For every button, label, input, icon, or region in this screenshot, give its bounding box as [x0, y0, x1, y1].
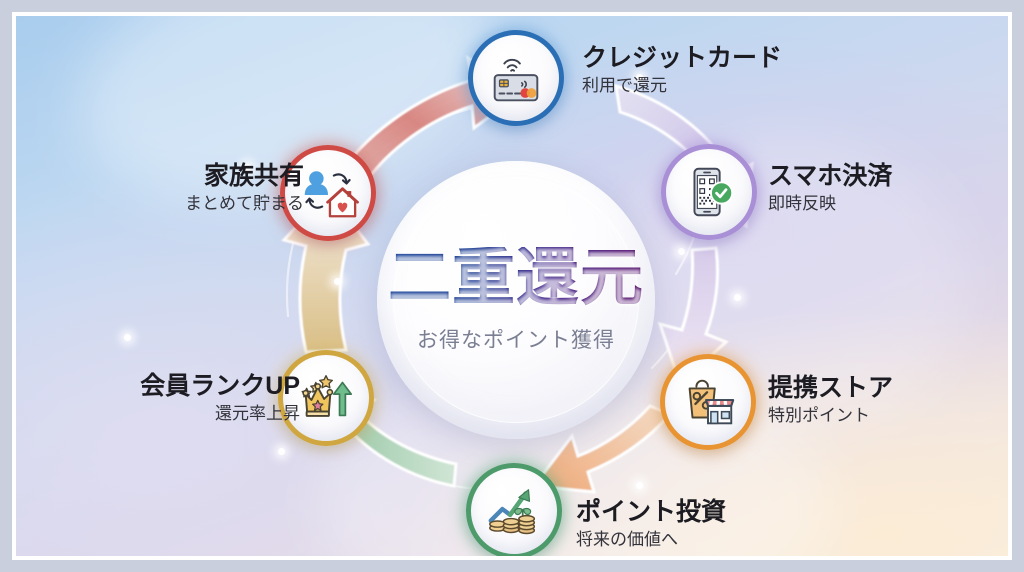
node-credit-card[interactable]	[468, 30, 564, 126]
node-title: 提携ストア	[768, 374, 893, 403]
node-subtitle: 特別ポイント	[768, 406, 893, 426]
sparkle-dot	[678, 248, 685, 255]
node-title: クレジットカード	[582, 44, 782, 73]
node-subtitle: 即時反映	[768, 194, 892, 214]
label-member-rank-up: 会員ランクUP 還元率上昇	[18, 372, 300, 424]
poster-frame: 二重還元 お得なポイント獲得	[12, 12, 1012, 560]
label-partner-store: 提携ストア 特別ポイント	[768, 374, 893, 426]
label-credit-card: クレジットカード 利用で還元	[582, 44, 782, 96]
node-subtitle: まとめて貯まる	[36, 194, 304, 214]
family-home-sync-icon	[297, 162, 359, 224]
node-partner-store[interactable]	[660, 354, 756, 450]
credit-card-icon	[485, 47, 547, 109]
shopping-store-icon	[677, 371, 739, 433]
center-subtitle: お得なポイント獲得	[417, 324, 615, 354]
sparkle-dot	[278, 448, 285, 455]
center-title: 二重還元	[388, 247, 644, 310]
sparkle-dot	[636, 482, 643, 489]
node-point-investment[interactable]	[466, 463, 562, 559]
sparkle-dot	[734, 294, 741, 301]
crown-stars-icon	[295, 367, 357, 429]
node-subtitle: 利用で還元	[582, 76, 782, 96]
center-hub: 二重還元 お得なポイント獲得	[377, 161, 655, 439]
node-title: スマホ決済	[768, 162, 892, 191]
node-subtitle: 還元率上昇	[18, 404, 300, 424]
label-point-investment: ポイント投資 将来の価値へ	[576, 498, 726, 550]
node-title: 家族共有	[36, 162, 304, 191]
sparkle-dot	[334, 278, 341, 285]
label-smartphone-payment: スマホ決済 即時反映	[768, 162, 892, 214]
node-title: 会員ランクUP	[18, 372, 300, 401]
node-subtitle: 将来の価値へ	[576, 530, 726, 550]
sparkle-dot	[124, 334, 131, 341]
label-family-share: 家族共有 まとめて貯まる	[36, 162, 304, 214]
node-smartphone-payment[interactable]	[661, 144, 757, 240]
smartphone-qr-icon	[678, 161, 740, 223]
infographic-stage: 二重還元 お得なポイント獲得	[0, 0, 1024, 572]
node-title: ポイント投資	[576, 498, 726, 527]
growth-coins-icon	[483, 480, 545, 542]
